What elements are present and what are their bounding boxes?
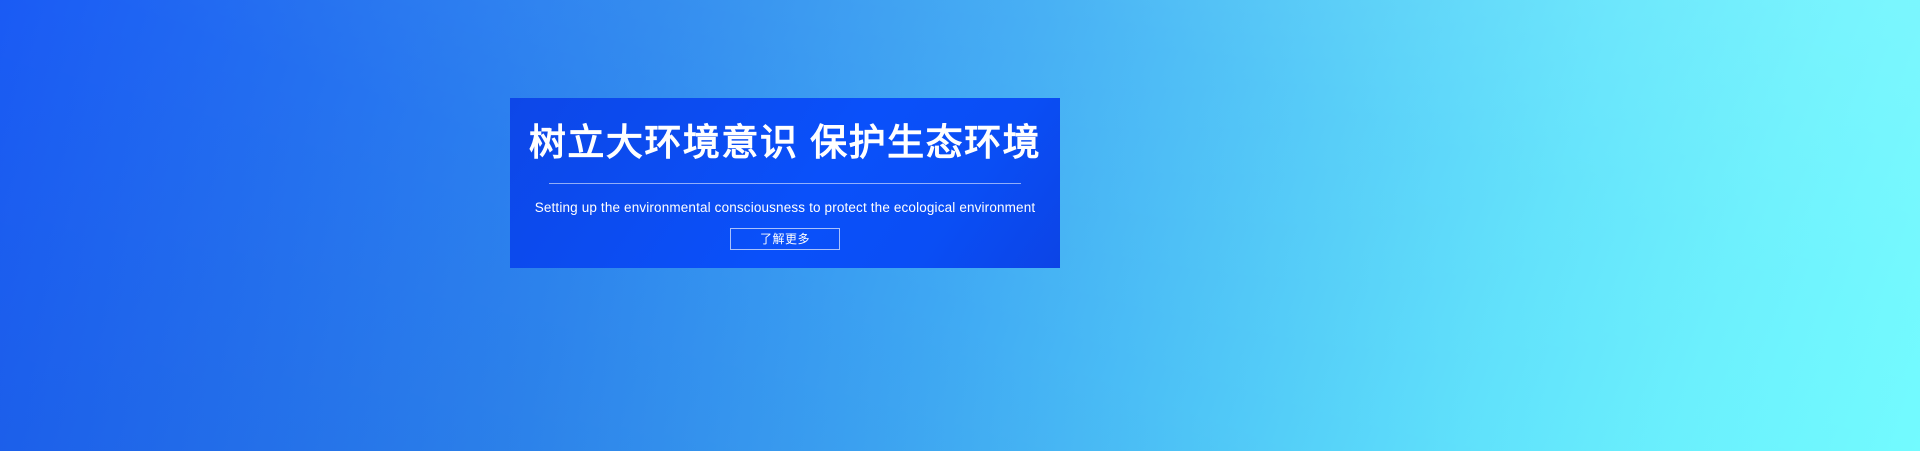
page-title: 树立大环境意识 保护生态环境 [529,124,1041,161]
hero-subtitle: Setting up the environmental consciousne… [535,200,1036,215]
hero-banner: 树立大环境意识 保护生态环境 Setting up the environmen… [0,0,1920,451]
learn-more-button[interactable]: 了解更多 [730,228,840,250]
hero-content-panel: 树立大环境意识 保护生态环境 Setting up the environmen… [510,98,1060,268]
title-divider [549,183,1021,184]
